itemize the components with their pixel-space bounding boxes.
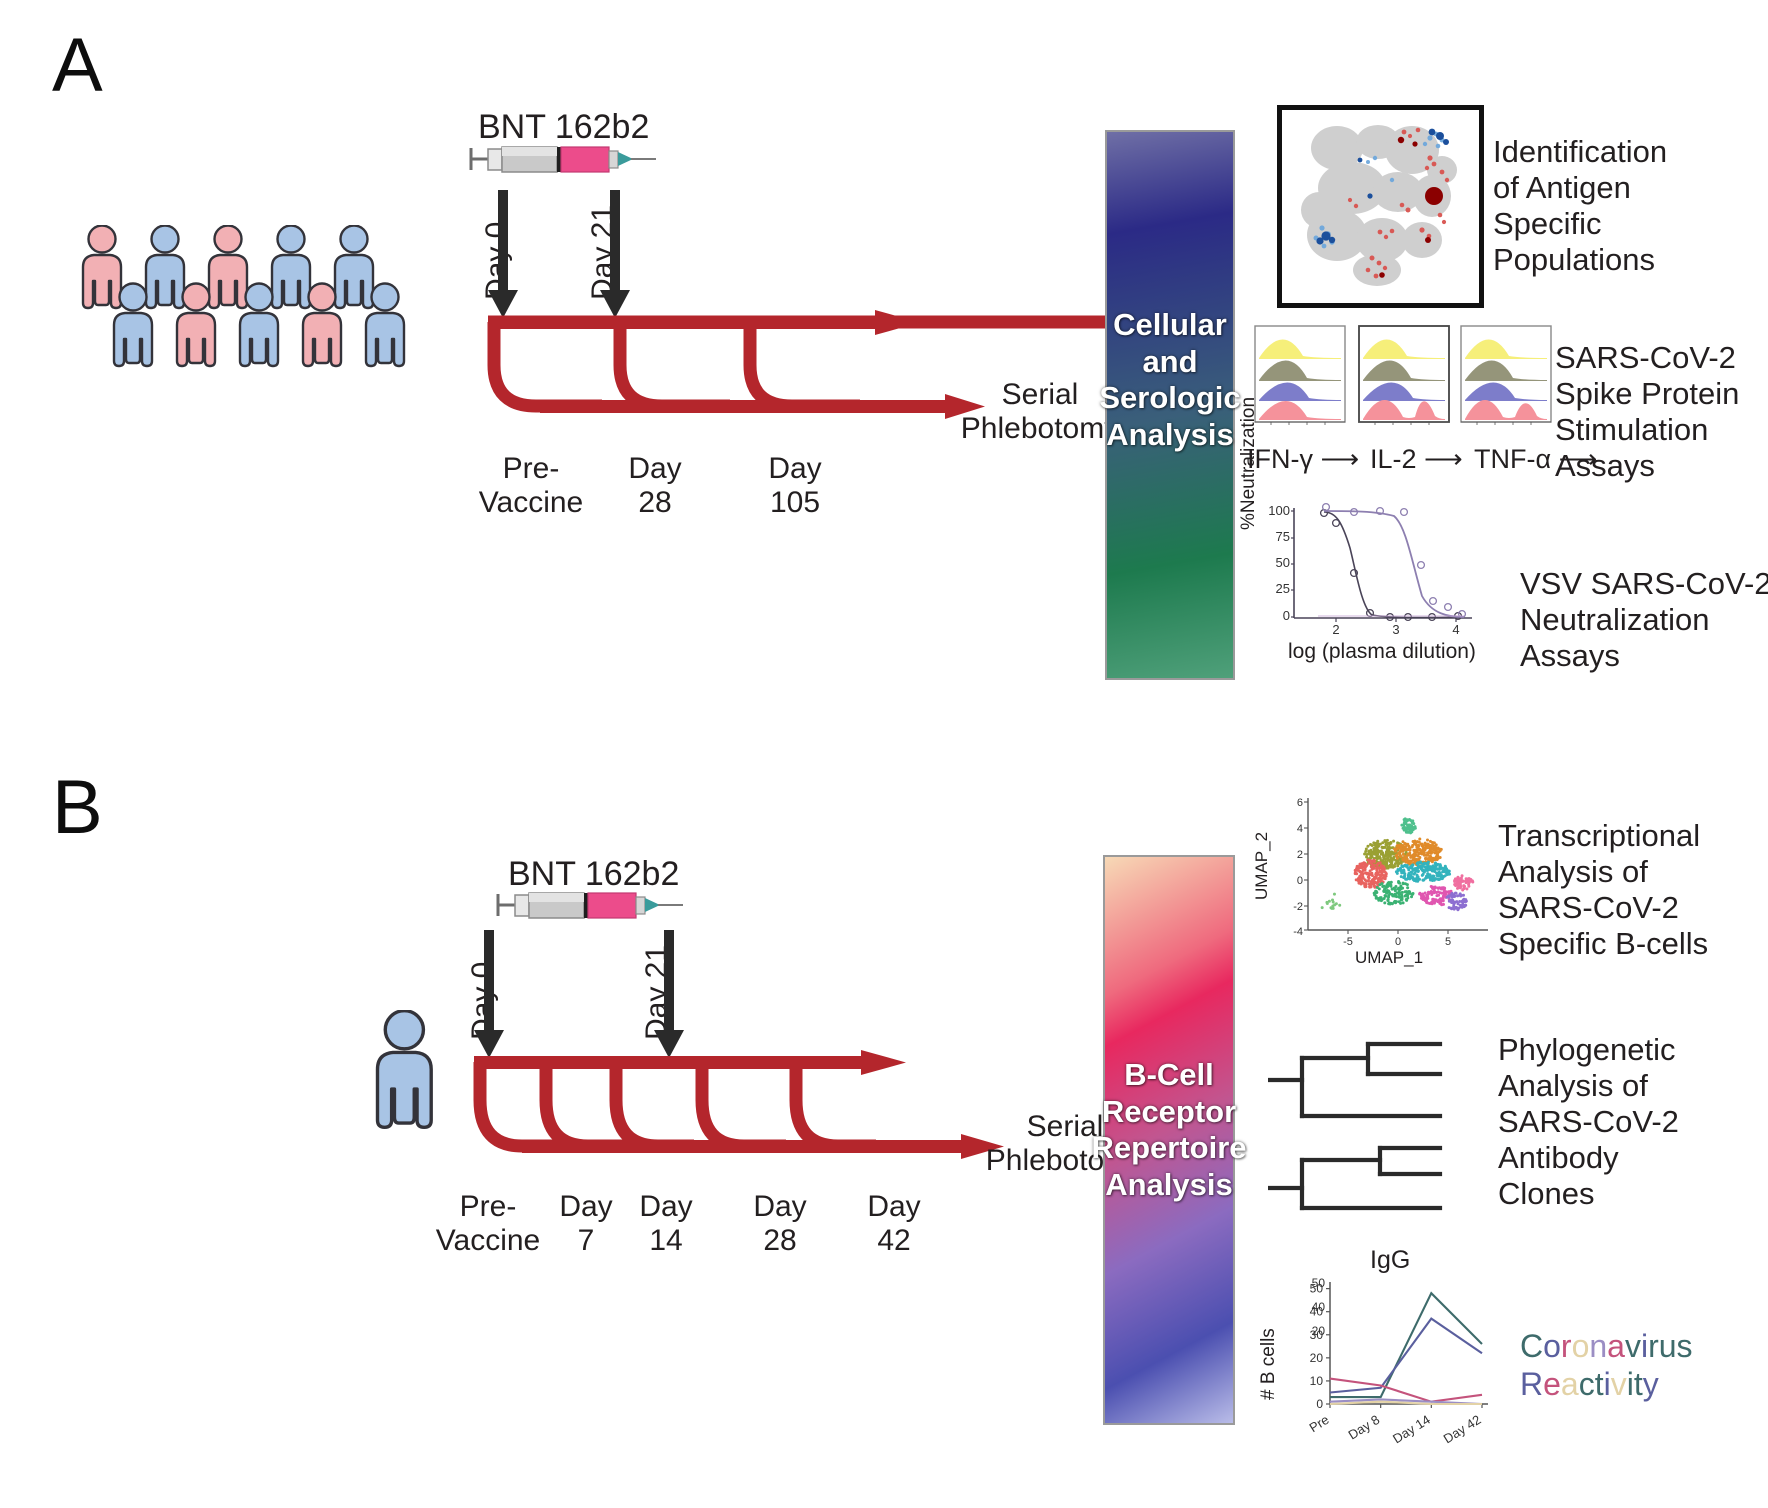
- igg-ytick-label: 30: [1310, 1328, 1324, 1342]
- svg-text:6: 6: [1297, 797, 1303, 809]
- umap-point: [1448, 890, 1451, 893]
- umap-point: [1387, 902, 1390, 905]
- umap-point: [1360, 877, 1363, 880]
- umap-point: [1361, 881, 1364, 884]
- igg-xtick-label: Day 42: [1441, 1412, 1484, 1447]
- analysis-bar-a-line4: Analysis: [1106, 417, 1234, 454]
- umap-point: [1453, 908, 1456, 911]
- umap-point: [1398, 892, 1401, 895]
- umap-point: [1411, 868, 1414, 871]
- umap-point: [1461, 906, 1464, 909]
- umap-point: [1439, 864, 1442, 867]
- umap-point: [1402, 901, 1405, 904]
- umap-point: [1377, 850, 1380, 853]
- umap-point: [1406, 843, 1409, 846]
- flow-caption-line3: Stimulation: [1555, 412, 1768, 448]
- umap-point: [1379, 861, 1382, 864]
- igg-chart-title: IgG: [1370, 1246, 1410, 1275]
- umap-point: [1445, 873, 1448, 876]
- umap-point: [1431, 865, 1434, 868]
- neutralization-caption-line2: Neutralization: [1520, 602, 1768, 638]
- umap-point: [1408, 853, 1411, 856]
- umap-point: [1453, 895, 1456, 898]
- umap-point: [1444, 865, 1447, 868]
- timepoint-a-2-line2: 105: [740, 486, 850, 520]
- umap-point: [1446, 869, 1449, 872]
- umap-point: [1409, 830, 1412, 833]
- igg-ytick-label: 50: [1310, 1282, 1324, 1296]
- umap-point: [1460, 876, 1463, 879]
- legend-letter: v: [1611, 1366, 1627, 1402]
- umap-point: [1406, 897, 1409, 900]
- timepoint-a-0-line1: Pre-: [466, 452, 596, 486]
- legend-letter: i: [1641, 1328, 1648, 1364]
- umap-point: [1421, 851, 1424, 854]
- umap-point: [1427, 902, 1430, 905]
- neutralization-caption-line1: VSV SARS-CoV-2: [1520, 566, 1768, 602]
- umap-point: [1374, 873, 1377, 876]
- umap-point: [1364, 868, 1367, 871]
- umap-point: [1386, 889, 1389, 892]
- umap-point: [1381, 885, 1384, 888]
- umap-point: [1408, 877, 1411, 880]
- umap-point: [1458, 893, 1461, 896]
- umap-caption-line4: Specific B-cells: [1498, 926, 1768, 962]
- umap-point: [1366, 845, 1369, 848]
- timepoint-b-2-line2: 14: [628, 1224, 704, 1258]
- umap-point: [1458, 879, 1461, 882]
- umap-point: [1384, 854, 1387, 857]
- umap-point: [1436, 857, 1439, 860]
- umap-point: [1375, 896, 1378, 899]
- umap-point: [1392, 840, 1395, 843]
- timepoint-a-2-line1: Day: [740, 452, 850, 486]
- umap-point: [1356, 869, 1359, 872]
- svg-text:25: 25: [1276, 581, 1290, 596]
- umap-point: [1418, 892, 1421, 895]
- umap-point: [1406, 819, 1409, 822]
- timepoint-b-0-line1: Pre-: [423, 1190, 553, 1224]
- analysis-bar-b-line1: B-Cell: [1124, 1057, 1214, 1094]
- umap-point: [1450, 901, 1453, 904]
- umap-point: [1429, 865, 1432, 868]
- umap-point: [1442, 886, 1445, 889]
- legend-letter: a: [1607, 1328, 1625, 1364]
- umap-point: [1388, 883, 1391, 886]
- timepoint-b-4: Day 42: [856, 1190, 932, 1257]
- umap-point: [1437, 887, 1440, 890]
- igg-ylabel-text: # B cells: [1258, 1328, 1279, 1400]
- flow-channel-0: IFN-γ ⟶: [1247, 444, 1359, 475]
- umap-point: [1395, 895, 1398, 898]
- umap-point: [1457, 886, 1460, 889]
- umap-point: [1382, 866, 1385, 869]
- tsne-plot: [1282, 110, 1469, 293]
- arrow-right-icon-1: ⟶: [1424, 444, 1463, 474]
- analysis-bar-a: Cellular and Serologic Analysis: [1105, 130, 1235, 680]
- umap-point: [1385, 861, 1388, 864]
- umap-point: [1400, 887, 1403, 890]
- umap-point: [1430, 885, 1433, 888]
- flow-channel-1: IL-2 ⟶: [1370, 444, 1463, 475]
- legend-letter: o: [1572, 1328, 1590, 1364]
- umap-point: [1433, 887, 1436, 890]
- umap-point: [1331, 899, 1334, 902]
- umap-point: [1373, 863, 1376, 866]
- umap-point: [1389, 892, 1392, 895]
- umap-point: [1381, 851, 1384, 854]
- umap-point: [1395, 854, 1398, 857]
- umap-point: [1439, 902, 1442, 905]
- umap-point: [1411, 845, 1414, 848]
- umap-point: [1428, 875, 1431, 878]
- umap-point: [1371, 868, 1374, 871]
- umap-point: [1376, 855, 1379, 858]
- flow-histograms: [1253, 324, 1553, 434]
- tsne-caption-line1: Identification: [1493, 134, 1753, 170]
- umap-chart: 642 0-2-4 -505: [1262, 790, 1512, 970]
- umap-point: [1321, 906, 1324, 909]
- igg-ytick-label: 0: [1316, 1397, 1323, 1411]
- phylo-caption-line5: Clones: [1498, 1176, 1748, 1212]
- umap-point: [1386, 899, 1389, 902]
- analysis-bar-b-line3: Repertoire: [1091, 1130, 1246, 1167]
- umap-point: [1423, 848, 1426, 851]
- svg-text:2: 2: [1332, 622, 1339, 637]
- umap-point: [1381, 846, 1384, 849]
- legend-letter: R: [1520, 1366, 1543, 1402]
- umap-point: [1400, 824, 1403, 827]
- umap-point: [1431, 898, 1434, 901]
- legend-letter: i: [1627, 1366, 1634, 1402]
- umap-point: [1365, 847, 1368, 850]
- neutralization-xlabel: log (plasma dilution): [1288, 640, 1476, 664]
- umap-point: [1408, 874, 1411, 877]
- timepoint-b-3-line1: Day: [742, 1190, 818, 1224]
- umap-point: [1461, 880, 1464, 883]
- timepoint-a-1: Day 28: [600, 452, 710, 519]
- phylo-caption-line2: Analysis of: [1498, 1068, 1748, 1104]
- umap-point: [1411, 819, 1414, 822]
- phylo-caption-line1: Phylogenetic: [1498, 1032, 1748, 1068]
- umap-point: [1383, 888, 1386, 891]
- syringe-icon-b: [495, 886, 685, 928]
- umap-point: [1414, 825, 1417, 828]
- phylo-caption: Phylogenetic Analysis of SARS-CoV-2 Anti…: [1498, 1032, 1748, 1212]
- legend-letter: C: [1520, 1328, 1543, 1364]
- analysis-bar-b: B-Cell Receptor Repertoire Analysis: [1103, 855, 1235, 1425]
- tsne-caption-line2: of Antigen: [1493, 170, 1753, 206]
- umap-point: [1374, 892, 1377, 895]
- timepoint-b-2: Day 14: [628, 1190, 704, 1257]
- analysis-bar-b-line4: Analysis: [1105, 1167, 1233, 1204]
- umap-point: [1459, 883, 1462, 886]
- analysis-bar-a-line2: and: [1142, 344, 1197, 381]
- umap-point: [1370, 865, 1373, 868]
- svg-text:2: 2: [1297, 849, 1303, 861]
- timepoint-b-1: Day 7: [548, 1190, 624, 1257]
- umap-caption: Transcriptional Analysis of SARS-CoV-2 S…: [1498, 818, 1768, 962]
- umap-point: [1376, 863, 1379, 866]
- legend-letter: t: [1634, 1366, 1643, 1402]
- umap-point: [1398, 896, 1401, 899]
- umap-point: [1399, 854, 1402, 857]
- umap-point: [1412, 828, 1415, 831]
- umap-point: [1426, 838, 1429, 841]
- umap-point: [1365, 872, 1368, 875]
- umap-point: [1399, 902, 1402, 905]
- umap-point: [1419, 861, 1422, 864]
- umap-point: [1376, 886, 1379, 889]
- igg-ytick-label: 40: [1310, 1305, 1324, 1319]
- umap-point: [1365, 856, 1368, 859]
- arrow-right-icon-0: ⟶: [1321, 444, 1360, 474]
- legend-letter: r: [1648, 1328, 1659, 1364]
- umap-point: [1354, 871, 1357, 874]
- panel-b-letter: B: [52, 770, 103, 846]
- umap-point: [1367, 879, 1370, 882]
- umap-point: [1401, 891, 1404, 894]
- umap-point: [1370, 851, 1373, 854]
- umap-point: [1383, 839, 1386, 842]
- timepoint-a-0: Pre- Vaccine: [466, 452, 596, 519]
- legend-letter: e: [1543, 1366, 1561, 1402]
- umap-point: [1357, 880, 1360, 883]
- svg-text:-5: -5: [1343, 936, 1353, 948]
- umap-point: [1449, 907, 1452, 910]
- legend-letter: t: [1595, 1366, 1604, 1402]
- legend-letter: y: [1643, 1366, 1659, 1402]
- umap-point: [1430, 844, 1433, 847]
- umap-point: [1365, 883, 1368, 886]
- umap-point: [1419, 865, 1422, 868]
- umap-point: [1408, 867, 1411, 870]
- umap-point: [1393, 887, 1396, 890]
- umap-point: [1338, 904, 1341, 907]
- umap-point: [1379, 874, 1382, 877]
- dose-arrow-day0-a: [486, 190, 520, 320]
- umap-point: [1402, 882, 1405, 885]
- umap-ylabel-text: UMAP_2: [1252, 832, 1271, 900]
- dose-arrow-day21-b: [652, 930, 686, 1060]
- legend-letter: u: [1659, 1328, 1677, 1364]
- umap-point: [1442, 899, 1445, 902]
- svg-text:75: 75: [1276, 529, 1290, 544]
- svg-text:100: 100: [1268, 503, 1290, 518]
- svg-text:0: 0: [1395, 936, 1401, 948]
- umap-ylabel: UMAP_2: [1252, 832, 1272, 900]
- svg-text:-4: -4: [1293, 926, 1303, 938]
- umap-point: [1370, 872, 1373, 875]
- umap-point: [1380, 877, 1383, 880]
- participant-cohort-a: [80, 225, 460, 425]
- flow-caption-line1: SARS-CoV-2: [1555, 340, 1768, 376]
- umap-point: [1380, 865, 1383, 868]
- umap-point: [1424, 842, 1427, 845]
- umap-point: [1328, 900, 1331, 903]
- umap-point: [1431, 874, 1434, 877]
- timepoint-b-4-line2: 42: [856, 1224, 932, 1258]
- umap-point: [1369, 843, 1372, 846]
- umap-point: [1447, 895, 1450, 898]
- umap-point: [1396, 841, 1399, 844]
- umap-point: [1390, 865, 1393, 868]
- umap-point: [1413, 852, 1416, 855]
- legend-letter: a: [1561, 1366, 1579, 1402]
- umap-point: [1410, 871, 1413, 874]
- umap-point: [1384, 895, 1387, 898]
- umap-point: [1437, 899, 1440, 902]
- umap-point: [1416, 874, 1419, 877]
- neutralization-caption-line3: Assays: [1520, 638, 1768, 674]
- umap-point: [1403, 818, 1406, 821]
- umap-point: [1434, 898, 1437, 901]
- umap-point: [1404, 864, 1407, 867]
- timepoint-b-0: Pre- Vaccine: [423, 1190, 553, 1257]
- umap-point: [1335, 902, 1338, 905]
- neutralization-ylabel: %Neutralization: [1238, 397, 1260, 530]
- umap-point: [1381, 898, 1384, 901]
- tsne-caption: Identification of Antigen Specific Popul…: [1493, 134, 1753, 278]
- umap-point: [1383, 901, 1386, 904]
- umap-point: [1437, 850, 1440, 853]
- umap-point: [1469, 880, 1472, 883]
- tsne-plot-box: [1277, 105, 1484, 308]
- timepoint-b-0-line2: Vaccine: [423, 1224, 553, 1258]
- timepoint-a-2: Day 105: [740, 452, 850, 519]
- svg-text:50: 50: [1276, 555, 1290, 570]
- phylo-caption-line3: SARS-CoV-2: [1498, 1104, 1748, 1140]
- timepoint-b-1-line1: Day: [548, 1190, 624, 1224]
- umap-point: [1396, 861, 1399, 864]
- neutralization-ylabel-text: %Neutralization: [1238, 397, 1259, 530]
- umap-point: [1410, 895, 1413, 898]
- umap-point: [1402, 844, 1405, 847]
- igg-chart-title-text: IgG: [1370, 1246, 1410, 1274]
- umap-point: [1416, 861, 1419, 864]
- umap-point: [1393, 847, 1396, 850]
- umap-point: [1396, 887, 1399, 890]
- umap-point: [1434, 846, 1437, 849]
- flow-channel-2-label: TNF-α: [1474, 444, 1551, 474]
- umap-point: [1416, 867, 1419, 870]
- umap-point: [1417, 869, 1420, 872]
- umap-point: [1465, 887, 1468, 890]
- umap-point: [1455, 882, 1458, 885]
- umap-point: [1431, 858, 1434, 861]
- umap-point: [1385, 875, 1388, 878]
- flow-caption-line4: Assays: [1555, 448, 1768, 484]
- umap-point: [1382, 854, 1385, 857]
- umap-point: [1397, 881, 1400, 884]
- neutralization-chart: 100 75 50 25 0 234: [1258, 500, 1488, 660]
- umap-point: [1443, 891, 1446, 894]
- legend-letter: r: [1561, 1328, 1572, 1364]
- participant-single-b: [370, 1010, 450, 1140]
- umap-point: [1331, 904, 1334, 907]
- legend-letter: o: [1543, 1328, 1561, 1364]
- timepoint-b-3: Day 28: [742, 1190, 818, 1257]
- umap-point: [1415, 841, 1418, 844]
- umap-point: [1406, 886, 1409, 889]
- umap-caption-line3: SARS-CoV-2: [1498, 890, 1768, 926]
- svg-text:0: 0: [1297, 875, 1303, 887]
- umap-point: [1363, 852, 1366, 855]
- svg-text:4: 4: [1297, 823, 1303, 835]
- umap-point: [1367, 859, 1370, 862]
- umap-point: [1433, 870, 1436, 873]
- umap-point: [1443, 870, 1446, 873]
- timepoint-a-1-line1: Day: [600, 452, 710, 486]
- umap-point: [1422, 878, 1425, 881]
- syringe-icon-a: [468, 140, 658, 182]
- umap-point: [1361, 867, 1364, 870]
- analysis-bar-a-line3: Serologic: [1099, 380, 1240, 417]
- umap-point: [1437, 894, 1440, 897]
- umap-point: [1403, 872, 1406, 875]
- igg-chart: 504020 01020304050 PreDay 8Day 14Day 42: [1270, 1272, 1530, 1462]
- umap-point: [1404, 859, 1407, 862]
- umap-point: [1404, 855, 1407, 858]
- umap-point: [1468, 877, 1471, 880]
- umap-point: [1456, 907, 1459, 910]
- umap-point: [1406, 883, 1409, 886]
- figure-root: A BNT 162b2: [0, 0, 1768, 1508]
- analysis-bar-a-line1: Cellular: [1113, 307, 1227, 344]
- umap-point: [1464, 880, 1467, 883]
- umap-point: [1392, 894, 1395, 897]
- flow-caption-line2: Spike Protein: [1555, 376, 1768, 412]
- umap-point: [1416, 879, 1419, 882]
- svg-text:5: 5: [1445, 936, 1451, 948]
- umap-point: [1418, 837, 1421, 840]
- igg-xtick-label: Day 8: [1346, 1412, 1383, 1443]
- legend-line-reactivity: Reactivity: [1520, 1366, 1693, 1404]
- umap-point: [1414, 871, 1417, 874]
- umap-point: [1436, 868, 1439, 871]
- umap-point: [1405, 890, 1408, 893]
- igg-ylabel: # B cells: [1258, 1328, 1280, 1400]
- umap-point: [1420, 843, 1423, 846]
- neutralization-xlabel-text: log (plasma dilution): [1288, 640, 1476, 663]
- umap-point: [1374, 847, 1377, 850]
- umap-point: [1412, 878, 1415, 881]
- umap-point: [1431, 891, 1434, 894]
- umap-point: [1369, 884, 1372, 887]
- umap-point: [1412, 840, 1415, 843]
- umap-point: [1439, 873, 1442, 876]
- umap-point: [1421, 870, 1424, 873]
- umap-point: [1390, 862, 1393, 865]
- legend-line-coronavirus: Coronavirus: [1520, 1328, 1693, 1366]
- umap-point: [1431, 841, 1434, 844]
- flow-channel-1-label: IL-2: [1370, 444, 1417, 474]
- tsne-caption-line4: Populations: [1493, 242, 1753, 278]
- tsne-caption-line3: Specific: [1493, 206, 1753, 242]
- umap-point: [1426, 869, 1429, 872]
- umap-point: [1462, 887, 1465, 890]
- igg-xtick-label: Day 14: [1390, 1412, 1433, 1447]
- legend-letter: s: [1677, 1328, 1693, 1364]
- umap-point: [1463, 900, 1466, 903]
- umap-point: [1441, 877, 1444, 880]
- umap-point: [1333, 893, 1336, 896]
- legend-letter: i: [1604, 1366, 1611, 1402]
- umap-point: [1408, 847, 1411, 850]
- umap-point: [1435, 878, 1438, 881]
- umap-point: [1398, 869, 1401, 872]
- umap-xlabel-text: UMAP_1: [1355, 948, 1423, 967]
